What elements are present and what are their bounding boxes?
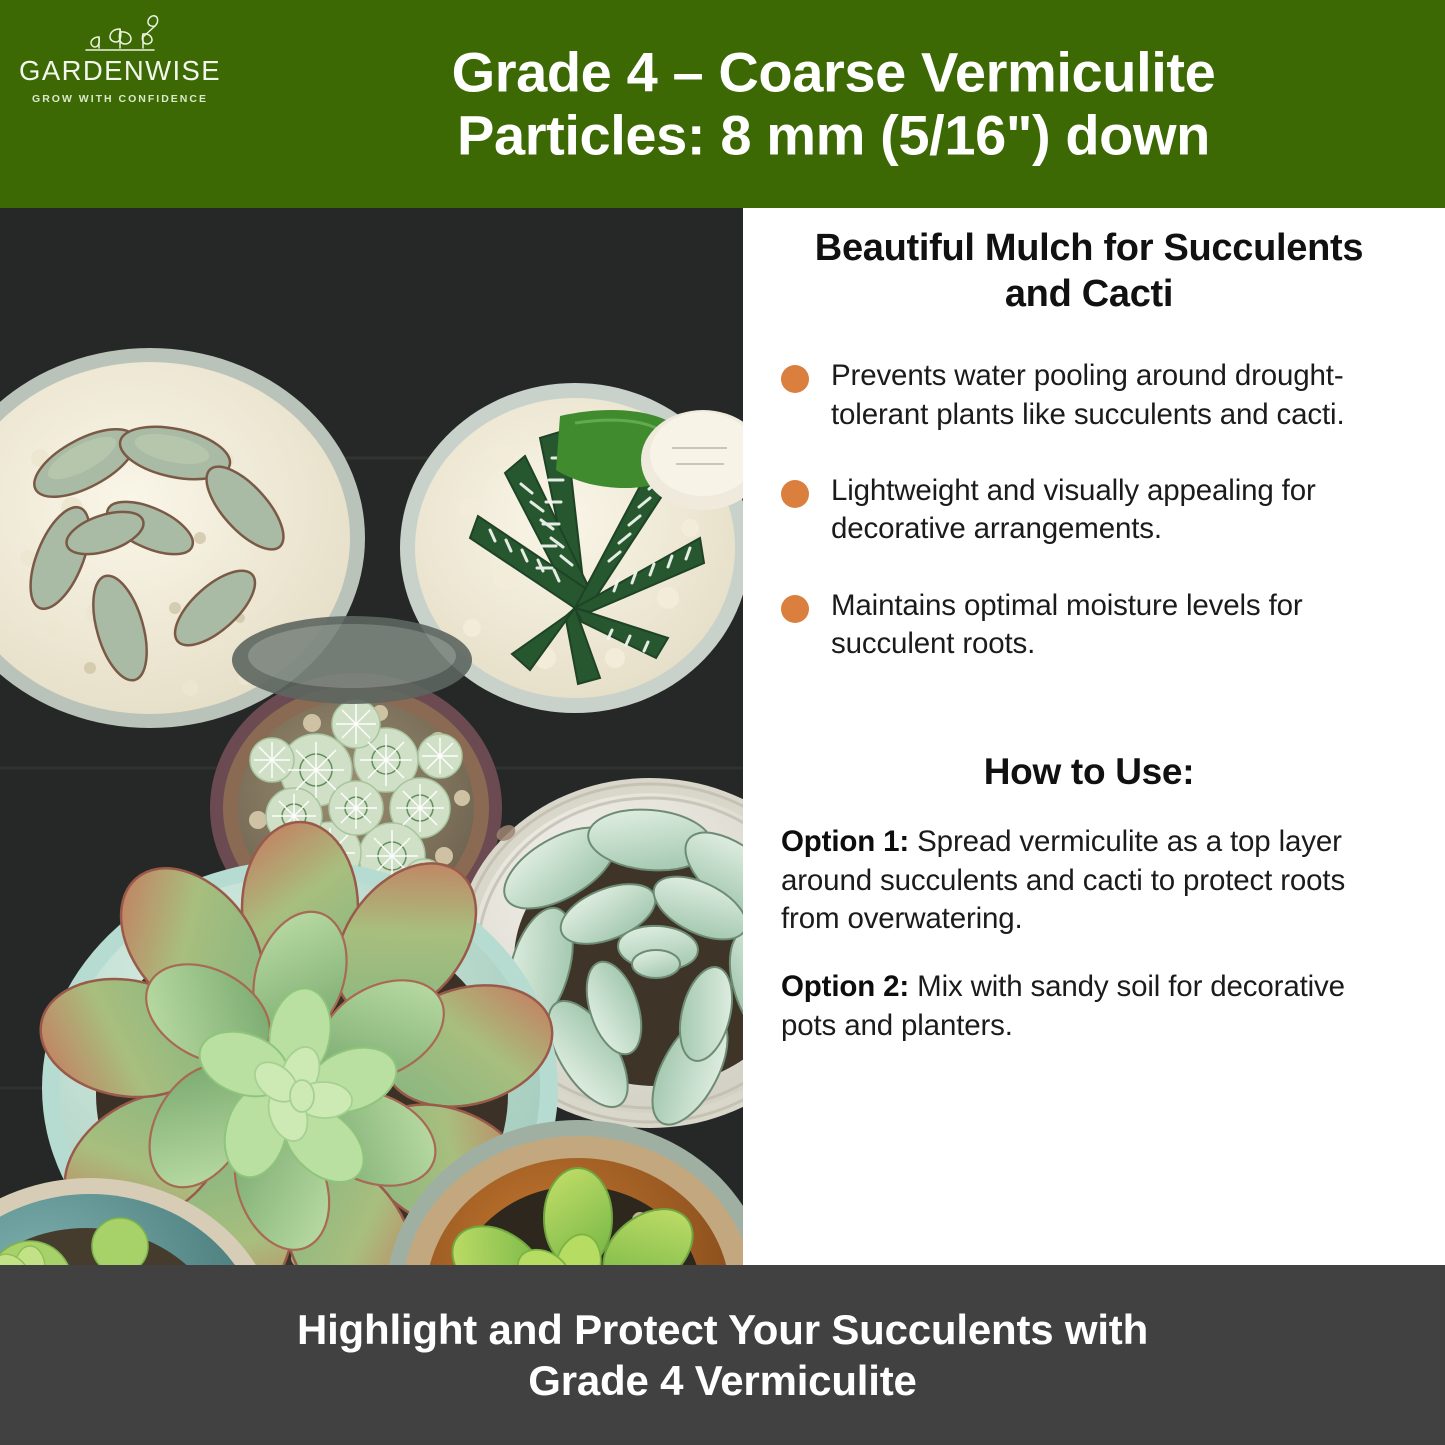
benefits-panel: Beautiful Mulch for Succulents and Cacti… — [743, 208, 1445, 1265]
footer-banner: Highlight and Protect Your Succulents wi… — [0, 1265, 1445, 1445]
brand-name: GARDENWISE — [19, 57, 221, 85]
bullet-dot-icon — [781, 480, 809, 508]
footer-tagline: Highlight and Protect Your Succulents wi… — [237, 1304, 1208, 1406]
sprout-leaves-icon — [75, 14, 165, 56]
bullet-dot-icon — [781, 365, 809, 393]
brand-logo: GARDENWISE GROW WITH CONFIDENCE — [14, 14, 226, 105]
succulent-collage-illustration — [0, 208, 743, 1265]
benefit-text: Maintains optimal moisture levels for su… — [831, 587, 1397, 664]
content-row: Beautiful Mulch for Succulents and Cacti… — [0, 208, 1445, 1265]
footer-line1: Highlight and Protect Your Succulents wi… — [297, 1306, 1148, 1353]
bullet-dot-icon — [781, 595, 809, 623]
footer-line2: Grade 4 Vermiculite — [297, 1355, 1148, 1406]
header-title-line2: Particles: 8 mm (5/16") down — [232, 104, 1435, 167]
howto-title: How to Use: — [781, 751, 1397, 793]
usage-option: Option 1: Spread vermiculite as a top la… — [781, 823, 1397, 938]
option-label: Option 1: — [781, 825, 909, 858]
header-title: Grade 4 – Coarse Vermiculite Particles: … — [232, 41, 1435, 168]
list-item: Prevents water pooling around drought-to… — [781, 357, 1397, 434]
benefit-text: Lightweight and visually appealing for d… — [831, 472, 1397, 549]
panel-title: Beautiful Mulch for Succulents and Cacti — [787, 226, 1391, 317]
list-item: Lightweight and visually appealing for d… — [781, 472, 1397, 549]
benefit-text: Prevents water pooling around drought-to… — [831, 357, 1397, 434]
option-label: Option 2: — [781, 970, 909, 1003]
list-item: Maintains optimal moisture levels for su… — [781, 587, 1397, 664]
benefits-list: Prevents water pooling around drought-to… — [781, 357, 1397, 663]
header-title-line1: Grade 4 – Coarse Vermiculite — [452, 41, 1216, 104]
header-banner: GARDENWISE GROW WITH CONFIDENCE Grade 4 … — [0, 0, 1445, 208]
usage-option: Option 2: Mix with sandy soil for decora… — [781, 968, 1397, 1045]
product-infographic: GARDENWISE GROW WITH CONFIDENCE Grade 4 … — [0, 0, 1445, 1445]
product-photo — [0, 208, 743, 1265]
brand-tagline: GROW WITH CONFIDENCE — [32, 93, 208, 105]
